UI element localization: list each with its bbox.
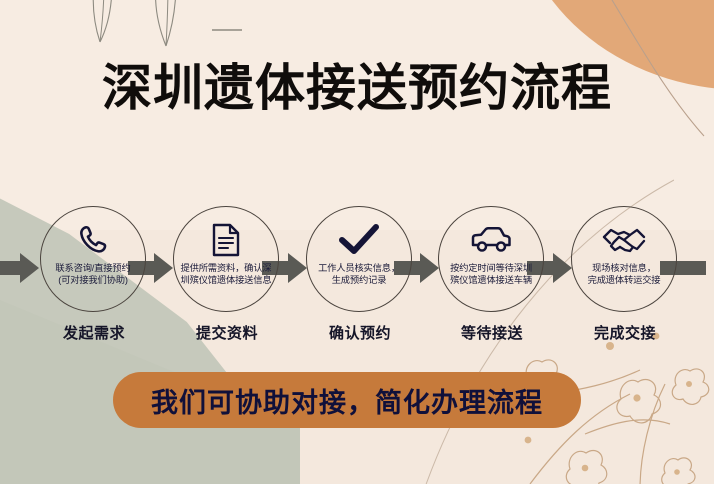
step-desc-line: 联系咨询/直接预约: [41, 263, 145, 275]
page-title: 深圳遗体接送预约流程: [0, 48, 714, 120]
flow-step-4[interactable]: 按约定时间等待深圳 殡仪馆遗体接送车辆 等待接送: [438, 206, 546, 356]
step-circle-1: 联系咨询/直接预约 (可对接我们协助): [40, 206, 146, 312]
step-label-4: 等待接送: [426, 322, 558, 343]
car-icon: [470, 221, 512, 259]
step-desc-line: 工作人员核实信息，: [307, 263, 411, 275]
step-desc-line: (可对接我们协助): [41, 275, 145, 287]
step-desc-line: 圳殡仪馆遗体接送信息: [174, 275, 278, 287]
step-description-5: 现场核对信息， 完成遗体转运交接: [572, 263, 676, 286]
step-label-5: 完成交接: [559, 322, 691, 343]
step-desc-line: 殡仪馆遗体接送车辆: [439, 275, 543, 287]
step-label-2: 提交资料: [161, 322, 293, 343]
cta-banner[interactable]: 我们可协助对接，简化办理流程: [113, 372, 581, 428]
step-circle-4: 按约定时间等待深圳 殡仪馆遗体接送车辆: [438, 206, 544, 312]
document-icon: [210, 221, 242, 259]
poster-canvas: 深圳遗体接送预约流程: [0, 0, 714, 484]
cta-banner-text: 我们可协助对接，简化办理流程: [151, 381, 543, 420]
step-desc-line: 按约定时间等待深圳: [439, 263, 543, 275]
step-label-1: 发起需求: [28, 322, 160, 343]
step-desc-line: 提供所需资料，确认深: [174, 263, 278, 275]
flow-step-3[interactable]: 工作人员核实信息， 生成预约记录 确认预约: [306, 206, 414, 356]
step-description-3: 工作人员核实信息， 生成预约记录: [307, 263, 411, 286]
flow-step-5[interactable]: 现场核对信息， 完成遗体转运交接 完成交接: [571, 206, 679, 356]
step-description-4: 按约定时间等待深圳 殡仪馆遗体接送车辆: [439, 263, 543, 286]
step-desc-line: 生成预约记录: [307, 275, 411, 287]
step-desc-line: 完成遗体转运交接: [572, 275, 676, 287]
flow-step-2[interactable]: 提供所需资料，确认深 圳殡仪馆遗体接送信息 提交资料: [173, 206, 281, 356]
step-circle-5: 现场核对信息， 完成遗体转运交接: [571, 206, 677, 312]
step-description-1: 联系咨询/直接预约 (可对接我们协助): [41, 263, 145, 286]
flow-step-1[interactable]: 联系咨询/直接预约 (可对接我们协助) 发起需求: [40, 206, 148, 356]
step-circle-2: 提供所需资料，确认深 圳殡仪馆遗体接送信息: [173, 206, 279, 312]
phone-icon: [76, 221, 110, 259]
step-desc-line: 现场核对信息，: [572, 263, 676, 275]
step-label-3: 确认预约: [294, 322, 426, 343]
step-description-2: 提供所需资料，确认深 圳殡仪馆遗体接送信息: [174, 263, 278, 286]
handshake-icon: [602, 221, 646, 259]
step-circle-3: 工作人员核实信息， 生成预约记录: [306, 206, 412, 312]
checkmark-icon: [339, 221, 379, 259]
process-flow: 联系咨询/直接预约 (可对接我们协助) 发起需求 提供所需资料，确认深 圳: [0, 206, 714, 356]
